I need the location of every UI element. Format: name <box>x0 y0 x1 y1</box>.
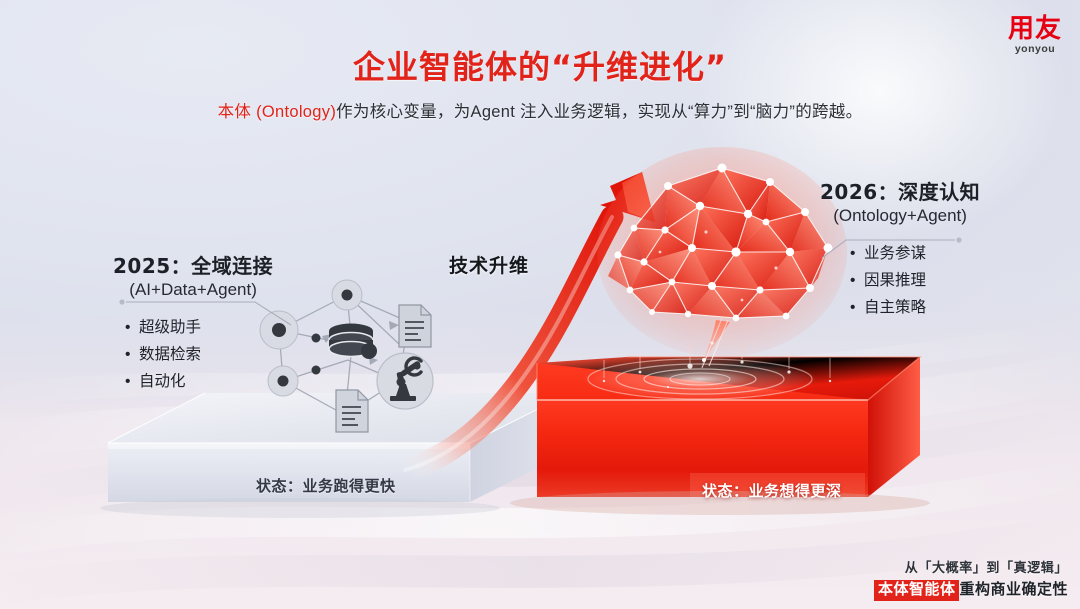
subtitle-rest: 作为核心变量，为Agent 注入业务逻辑，实现从“算力”到“脑力”的跨越。 <box>336 103 862 121</box>
logo-text-cn: 用友 <box>1008 16 1062 42</box>
bullet-text: 数据检索 <box>139 346 201 363</box>
network-graph-icon <box>260 280 433 432</box>
bullet-dot: • <box>850 294 864 321</box>
list-item: •自动化 <box>125 368 273 395</box>
footer-tail: 重构商业确定性 <box>959 581 1068 598</box>
left-platform-status: 状态：业务跑得更快 <box>256 475 396 496</box>
arrow-label: 技术升维 <box>449 251 529 278</box>
list-item: •超级助手 <box>125 314 273 341</box>
footer-line-2: 本体智能体重构商业确定性 <box>874 580 1068 601</box>
polygon-brain-icon <box>597 147 847 357</box>
document-icon <box>336 390 368 432</box>
bullet-dot: • <box>125 314 139 341</box>
left-platform <box>100 393 570 518</box>
bullet-dot: • <box>850 267 864 294</box>
bullet-text: 因果推理 <box>864 272 926 289</box>
bullet-dot: • <box>850 240 864 267</box>
bullet-text: 自主策略 <box>864 299 926 316</box>
page-title: 企业智能体的“升维进化” <box>0 42 1080 88</box>
list-item: •业务参谋 <box>850 240 980 267</box>
document-icon <box>399 305 431 347</box>
bullet-text: 超级助手 <box>139 319 201 336</box>
page-subtitle: 本体 (Ontology)作为核心变量，为Agent 注入业务逻辑，实现从“算力… <box>0 98 1080 122</box>
year-block-2026: 2026：深度认知 (Ontology+Agent) •业务参谋 •因果推理 •… <box>820 176 980 321</box>
particle-sparks <box>603 360 831 388</box>
subtitle-highlight: 本体 (Ontology) <box>218 103 337 121</box>
footer-line-1: 从「大概率」到「真逻辑」 <box>874 560 1068 576</box>
list-item: •数据检索 <box>125 341 273 368</box>
year-2026-bullets: •业务参谋 •因果推理 •自主策略 <box>850 240 980 321</box>
brain-stem <box>700 318 730 370</box>
robot-arm-icon <box>377 353 433 409</box>
bullet-text: 自动化 <box>139 373 186 390</box>
year-2026-subtitle: (Ontology+Agent) <box>820 206 980 226</box>
database-icon <box>329 324 377 360</box>
bullet-dot: • <box>125 341 139 368</box>
curved-up-arrow-icon <box>405 172 655 470</box>
slide-canvas: 用友 yonyou 企业智能体的“升维进化” 本体 (Ontology)作为核心… <box>0 0 1080 609</box>
ripple-rings <box>582 357 818 401</box>
list-item: •自主策略 <box>850 294 980 321</box>
footer-badge: 本体智能体 <box>874 580 960 601</box>
bullet-text: 业务参谋 <box>864 245 926 262</box>
list-item: •因果推理 <box>850 267 980 294</box>
year-block-2025: 2025：全域连接 (AI+Data+Agent) •超级助手 •数据检索 •自… <box>113 250 273 395</box>
year-2025-bullets: •超级助手 •数据检索 •自动化 <box>125 314 273 395</box>
year-2025-heading: 2025：全域连接 <box>113 250 273 279</box>
year-2025-subtitle: (AI+Data+Agent) <box>113 280 273 300</box>
right-platform-status: 状态：业务想得更深 <box>702 480 842 501</box>
bullet-dot: • <box>125 368 139 395</box>
year-2026-heading: 2026：深度认知 <box>820 176 980 205</box>
footer-slogan: 从「大概率」到「真逻辑」 本体智能体重构商业确定性 <box>874 560 1068 601</box>
